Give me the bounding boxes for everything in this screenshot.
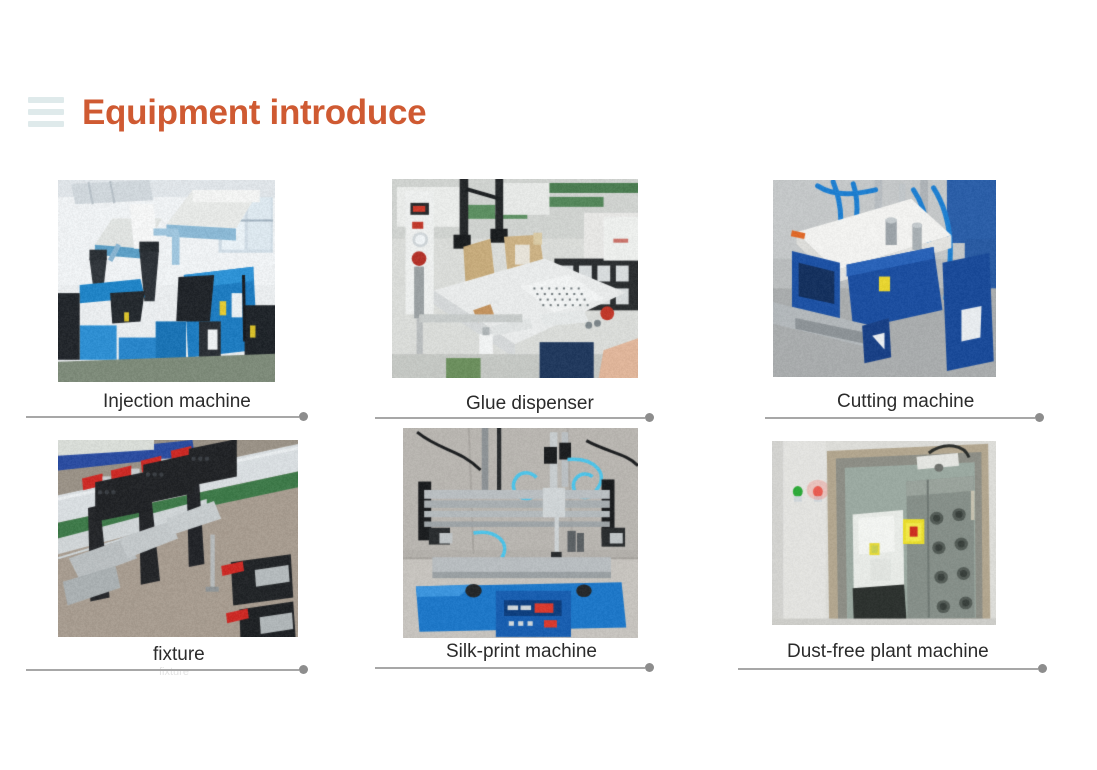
- slide-header: Equipment introduce: [0, 84, 1097, 140]
- hamburger-icon[interactable]: [28, 97, 64, 127]
- equipment-photo-canvas: [773, 180, 996, 377]
- hamburger-bar-2: [28, 109, 64, 115]
- equipment-card[interactable]: Cutting machine: [0, 160, 1097, 410]
- hamburger-bar-3: [28, 121, 64, 127]
- equipment-divider: [26, 669, 299, 671]
- equipment-photo: [772, 441, 996, 625]
- equipment-photo: [773, 180, 996, 377]
- equipment-divider: [738, 668, 1038, 670]
- equipment-row-2: fixturefixtureSilk-print machineDust-fre…: [0, 410, 1097, 660]
- equipment-divider-dot: [1038, 664, 1047, 673]
- page-title: Equipment introduce: [82, 95, 426, 130]
- equipment-divider-dot: [645, 663, 654, 672]
- equipment-divider: [375, 667, 645, 669]
- equipment-caption: Dust-free plant machine: [787, 642, 989, 661]
- equipment-row-1: Injection machineGlue dispenserCutting m…: [0, 160, 1097, 410]
- equipment-photo-canvas: [772, 441, 996, 625]
- photo-watermark: fixture: [159, 666, 189, 678]
- equipment-divider-dot: [299, 665, 308, 674]
- equipment-caption: Cutting machine: [837, 392, 974, 411]
- equipment-grid: Injection machineGlue dispenserCutting m…: [0, 160, 1097, 660]
- equipment-card[interactable]: Dust-free plant machine: [0, 410, 1097, 660]
- hamburger-bar-1: [28, 97, 64, 103]
